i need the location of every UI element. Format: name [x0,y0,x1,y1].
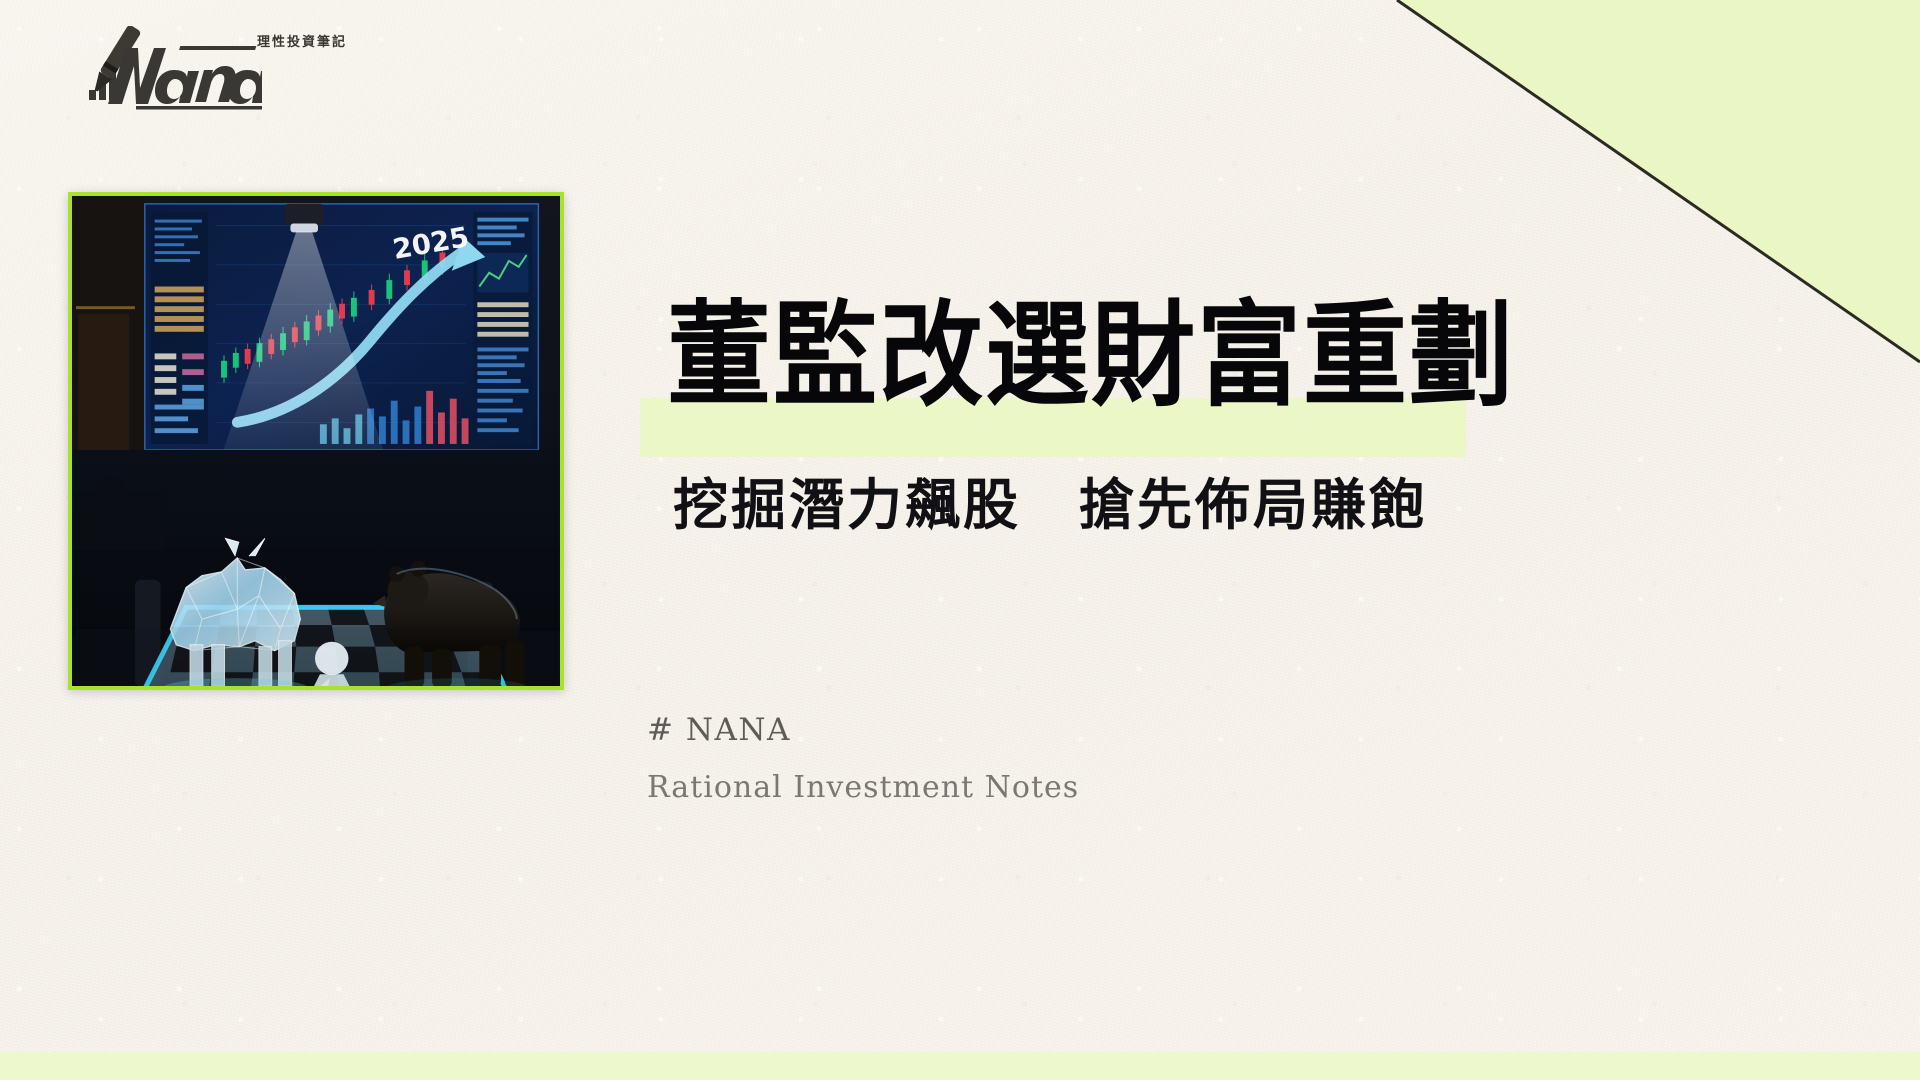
hashtag-label: # NANA [647,712,1079,748]
page-title: 董監改選財富重劃 [667,296,1515,416]
logo-tagline: 理性投資筆記 [257,31,347,50]
hero-image: 2025 [68,192,564,690]
headline-block: 董監改選財富重劃 [645,296,1845,446]
byline-block: # NANA Rational Investment Notes [647,712,1079,805]
footer-strip [0,1052,1920,1080]
brand-logo[interactable]: 理性投資筆記 [82,26,382,112]
content-column: 董監改選財富重劃 挖掘潛力飆股 搶先佈局賺飽 # NANA Rational I… [645,0,1885,1080]
page-subtitle: 挖掘潛力飆股 搶先佈局賺飽 [673,472,1427,538]
nana-wordmark-icon [82,26,262,112]
byline-label: Rational Investment Notes [647,770,1079,805]
